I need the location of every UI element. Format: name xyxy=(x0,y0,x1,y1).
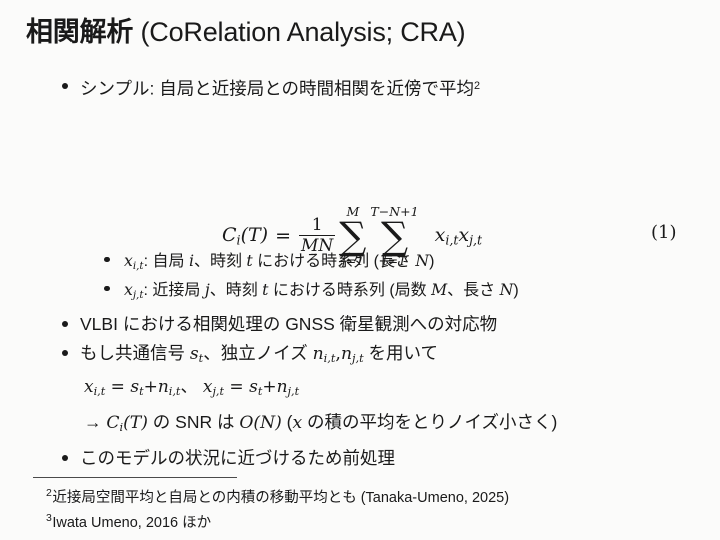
bullet-vlbi-p1: VLBI xyxy=(80,314,118,334)
symbol-n-jt: nj,t xyxy=(277,377,300,397)
title-english: (CoRelation Analysis; CRA) xyxy=(133,17,465,47)
bullet-signal-p2: 、独立ノイズ xyxy=(203,343,312,363)
sub-bullet-2-text-d: 、長さ xyxy=(447,282,499,299)
snr-p2: の xyxy=(148,412,175,432)
plus-sign: + xyxy=(144,377,158,397)
sub-bullet-2-text-b: 、時刻 xyxy=(210,282,262,299)
footnote-marker: 2 xyxy=(46,487,52,499)
sub-bullet-1-text-b: 、時刻 xyxy=(194,253,246,270)
bullet-signal-p3: を用いて xyxy=(364,343,438,363)
sub-bullet-2-text-c: における時系列 (局数 xyxy=(268,282,431,299)
snr-p5: ( xyxy=(282,412,293,432)
symbol-big-o-n: O(N) xyxy=(239,413,281,433)
bullet-vlbi-p4: 衛星観測への対応物 xyxy=(335,314,497,334)
symbol-s-t: st xyxy=(190,344,203,364)
snr-p4: は xyxy=(212,412,239,432)
bullet-preprocessing-text: このモデルの状況に近づけるため前処理 xyxy=(80,448,395,468)
list-item: もし共通信号 st、独立ノイズ ni,t,nj,t を用いて xyxy=(0,341,720,371)
page-title: 相関解析 (CoRelation Analysis; CRA) xyxy=(26,16,465,48)
symbol-n: N xyxy=(415,251,429,270)
snr-p3: SNR xyxy=(175,412,212,432)
footnote-text: Iwata Umeno, 2016 ほか xyxy=(52,515,211,531)
equation-number: (1) xyxy=(651,222,677,243)
symbol-n-it: ni,t xyxy=(313,344,336,364)
bullet-icon xyxy=(62,455,68,461)
symbol-x: x xyxy=(293,413,303,433)
footnote-area: 2近接局空間平均と自局との内積の移動平均とも (Tanaka-Umeno, 20… xyxy=(46,483,706,533)
bullet-icon xyxy=(104,257,110,263)
footnote-ref-2: 2 xyxy=(474,80,480,92)
footnote-item: 3Iwata Umeno, 2016 ほか xyxy=(46,508,706,533)
bullet-1-text: シンプル: 自局と近接局との時間相関を近傍で平均 xyxy=(80,79,474,99)
sub-bullet-2-text-a: : 近接局 xyxy=(143,282,204,299)
equals-sign: = xyxy=(111,377,125,397)
bullet-icon xyxy=(62,83,68,89)
footnote-item: 2近接局空間平均と自局との内積の移動平均とも (Tanaka-Umeno, 20… xyxy=(46,483,706,508)
snr-p6: の積の平均をとりノイズ小さく) xyxy=(302,412,557,432)
symbol-n-it: ni,t xyxy=(158,377,181,397)
plus-sign: + xyxy=(262,377,276,397)
symbol-x-it: xi,t xyxy=(124,251,144,270)
list-item: xj,t: 近接局 j、時刻 t における時系列 (局数 M、長さ N) xyxy=(0,278,720,307)
list-item: このモデルの状況に近づけるため前処理 xyxy=(0,446,720,470)
equals-sign: = xyxy=(229,377,243,397)
symbol-n: N xyxy=(500,280,514,299)
symbol-n-jt: nj,t xyxy=(341,344,364,364)
symbol-c-i-t: Ci(T) xyxy=(106,413,148,433)
bullet-vlbi-p3: GNSS xyxy=(285,314,335,334)
footnote-text: 近接局空間平均と自局との内積の移動平均とも (Tanaka-Umeno, 202… xyxy=(52,490,509,506)
fraction-numerator: 1 xyxy=(309,217,326,235)
symbol-s-t: st xyxy=(130,377,143,397)
slide: 相関解析 (CoRelation Analysis; CRA) シンプル: 自局… xyxy=(0,0,720,540)
bullet-icon xyxy=(104,286,110,292)
bullet-icon xyxy=(62,321,68,327)
symbol-s-t: st xyxy=(249,377,262,397)
sub-bullet-1-text-a: : 自局 xyxy=(144,253,189,270)
sub-bullet-1-text-c: における時系列 (長さ xyxy=(253,253,416,270)
bullet-icon xyxy=(62,350,68,356)
equation-decomposition: xi,t = st+ni,t、 xj,t = st+nj,t xyxy=(0,375,720,404)
symbol-x-jt: xj,t xyxy=(124,280,143,299)
footnote-divider xyxy=(33,477,237,478)
list-item: VLBI における相関処理の GNSS 衛星観測への対応物 xyxy=(0,312,720,336)
footnote-marker: 3 xyxy=(46,512,52,524)
symbol-x-it: xi,t xyxy=(84,377,105,397)
bullet-signal-p1: もし共通信号 xyxy=(80,343,190,363)
bullet-vlbi-p2: における相関処理の xyxy=(118,314,285,334)
list-item: シンプル: 自局と近接局との時間相関を近傍で平均2 xyxy=(0,74,720,101)
list-item: xi,t: 自局 i、時刻 t における時系列 (長さ N) xyxy=(0,249,720,278)
equation-summand: xi,txj,t xyxy=(435,224,482,248)
equals-sign: = xyxy=(275,225,291,247)
sub-bullet-2-text-e: ) xyxy=(513,282,518,299)
symbol-x-jt: xj,t xyxy=(203,377,224,397)
ideographic-comma: 、 xyxy=(180,377,197,396)
symbol-m: M xyxy=(431,280,447,299)
equation-lhs: Ci(T) xyxy=(222,224,268,248)
snr-implication-line: → Ci(T) の SNR は O(N) (x の積の平均をとりノイズ小さく) xyxy=(0,410,720,440)
slide-body: シンプル: 自局と近接局との時間相関を近傍で平均2 Ci(T) = 1 MN M… xyxy=(0,74,720,470)
sub-bullet-1-text-d: ) xyxy=(429,253,434,270)
arrow-p1: → xyxy=(84,412,106,432)
title-japanese: 相関解析 xyxy=(26,17,133,47)
